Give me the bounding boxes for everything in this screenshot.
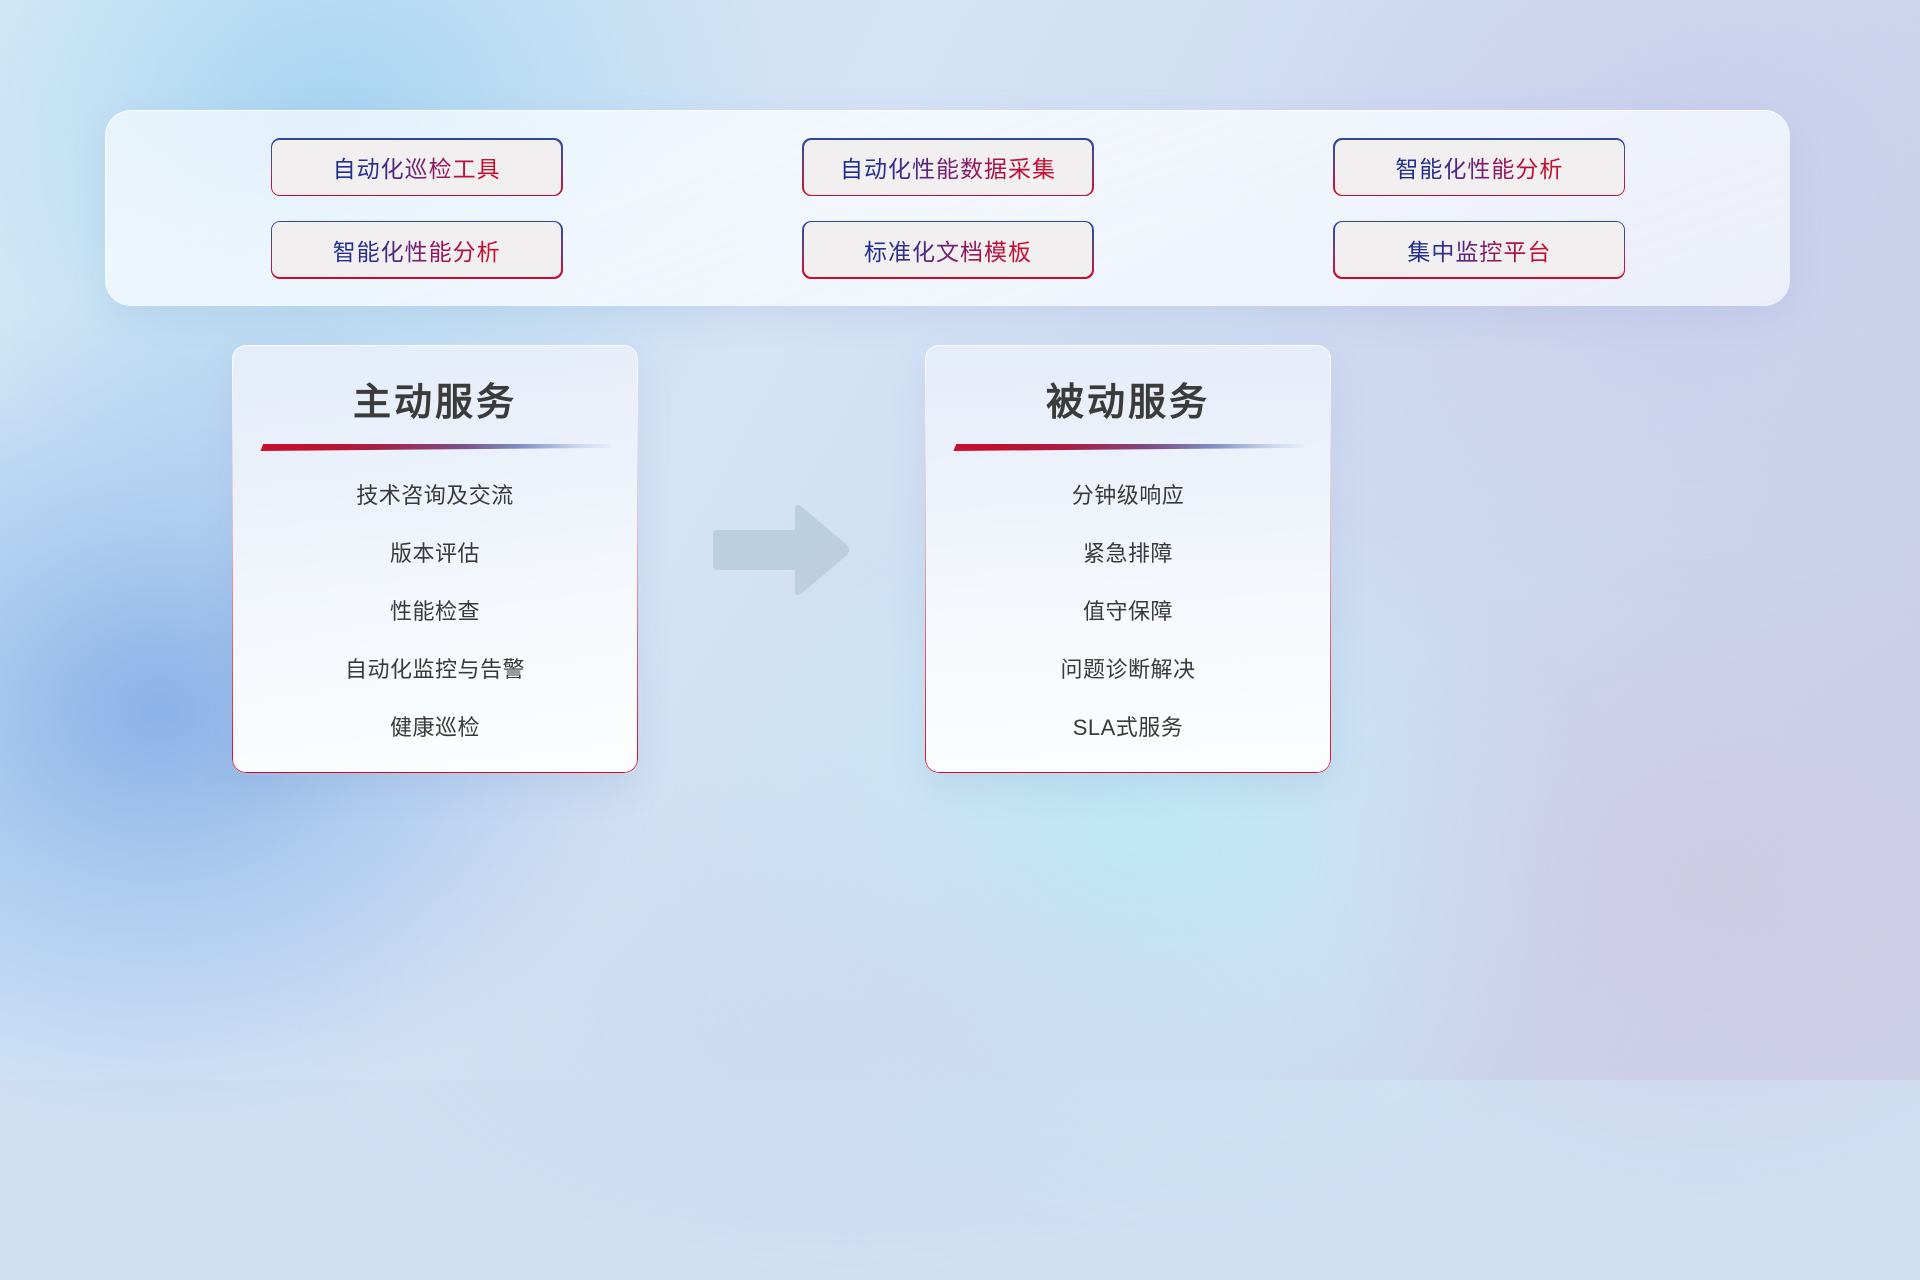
card-title: 被动服务 [925, 371, 1331, 426]
tool-pill-surface: 智能化性能分析 [1335, 140, 1624, 195]
list-item: 性能检查 [232, 601, 638, 623]
list-item: 紧急排障 [925, 543, 1331, 565]
background-blob-bottom [300, 760, 1400, 1280]
list-item: 分钟级响应 [925, 485, 1331, 507]
tool-pill-surface: 标准化文档模板 [804, 222, 1093, 277]
card-title-divider [952, 444, 1304, 451]
tool-pill-central-monitoring-platform[interactable]: 集中监控平台 [1333, 221, 1625, 279]
tool-pill-surface: 自动化巡检工具 [272, 140, 561, 195]
card-title-divider [259, 444, 611, 451]
tool-pill-surface: 自动化性能数据采集 [804, 140, 1093, 195]
tool-pill-label: 智能化性能分析 [1395, 150, 1563, 184]
arrow-right-icon [713, 500, 853, 600]
service-list-proactive: 技术咨询及交流 版本评估 性能检查 自动化监控与告警 健康巡检 [232, 485, 638, 739]
tool-pill-surface: 集中监控平台 [1335, 222, 1624, 277]
tool-pill-standard-doc-template[interactable]: 标准化文档模板 [802, 221, 1094, 279]
service-list-reactive: 分钟级响应 紧急排障 值守保障 问题诊断解决 SLA式服务 [925, 485, 1331, 739]
tool-pill-automated-perf-collection[interactable]: 自动化性能数据采集 [802, 138, 1094, 196]
tool-pill-automated-inspection[interactable]: 自动化巡检工具 [271, 138, 563, 196]
list-item: 技术咨询及交流 [232, 485, 638, 507]
service-card-proactive: 主动服务 技术咨询及交流 版本评估 性能检查 自动化监控与告警 健康巡检 [232, 345, 638, 773]
list-item: 值守保障 [925, 601, 1331, 623]
tool-pill-label: 自动化巡检工具 [333, 150, 501, 184]
list-item: 健康巡检 [232, 717, 638, 739]
list-item: 自动化监控与告警 [232, 659, 638, 681]
tool-pill-label: 自动化性能数据采集 [840, 150, 1056, 184]
tool-pill-intelligent-perf-analysis-b[interactable]: 智能化性能分析 [271, 221, 563, 279]
tool-pill-label: 智能化性能分析 [333, 233, 501, 267]
background-blob-bottom-right [1330, 560, 1920, 1200]
tool-pill-label: 集中监控平台 [1407, 233, 1551, 267]
list-item: 版本评估 [232, 543, 638, 565]
list-item: 问题诊断解决 [925, 659, 1331, 681]
list-item: SLA式服务 [925, 717, 1331, 739]
card-title: 主动服务 [232, 371, 638, 426]
tool-pill-intelligent-perf-analysis-a[interactable]: 智能化性能分析 [1333, 138, 1625, 196]
tool-pill-label: 标准化文档模板 [864, 233, 1032, 267]
tool-pill-surface: 智能化性能分析 [272, 222, 561, 277]
capability-tools-panel: 自动化巡检工具 自动化性能数据采集 智能化性能分析 智能化性能分析 标准化文档模… [105, 110, 1790, 306]
service-card-reactive: 被动服务 分钟级响应 紧急排障 值守保障 问题诊断解决 SLA式服务 [925, 345, 1331, 773]
